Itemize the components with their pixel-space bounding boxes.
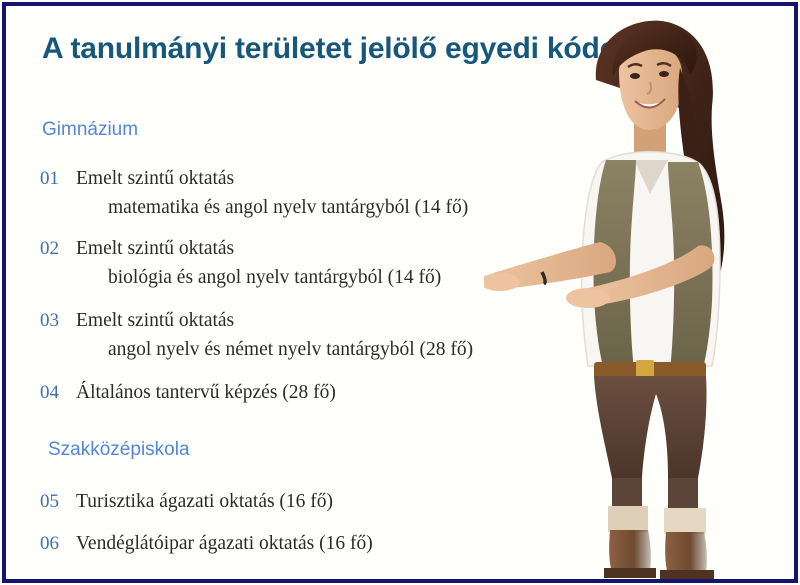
list-item: 04 Általános tantervű képzés (28 fő): [40, 383, 336, 403]
entry-line-2: matematika és angol nyelv tantárgyból (1…: [108, 198, 468, 218]
entry-line-1: Turisztika ágazati oktatás (16 fő): [76, 492, 333, 512]
code-number: 01: [40, 169, 70, 188]
pants: [594, 376, 707, 478]
right-lower-leg: [668, 478, 698, 512]
list-item: 03 Emelt szintű oktatás angol nyelv és n…: [40, 311, 473, 359]
entry-line-2: biológia és angol nyelv tantárgyból (14 …: [108, 268, 441, 288]
entry-line-1: Emelt szintű oktatás: [76, 311, 473, 331]
entry-body: Vendéglátóipar ágazati oktatás (16 fő): [76, 534, 373, 554]
left-boot-cuff: [608, 506, 648, 532]
list-item: 06 Vendéglátóipar ágazati oktatás (16 fő…: [40, 534, 373, 554]
right-boot-cuff: [664, 508, 706, 534]
code-number: 06: [40, 534, 70, 553]
entry-line-1: Emelt szintű oktatás: [76, 169, 468, 189]
entry-body: Emelt szintű oktatás biológia és angol n…: [76, 239, 441, 287]
entry-line-1: Vendéglátóipar ágazati oktatás (16 fő): [76, 534, 373, 554]
entry-body: Emelt szintű oktatás angol nyelv és néme…: [76, 311, 473, 359]
right-boot-sole: [660, 570, 714, 580]
entry-line-2: angol nyelv és német nyelv tantárgyból (…: [108, 340, 473, 360]
left-boot-sole: [604, 568, 656, 578]
list-item: 05 Turisztika ágazati oktatás (16 fő): [40, 492, 333, 512]
presenter-photo: [484, 10, 784, 582]
list-item: 01 Emelt szintű oktatás matematika és an…: [40, 169, 468, 217]
right-boot: [665, 532, 707, 574]
entry-line-1: Emelt szintű oktatás: [76, 239, 441, 259]
code-number: 04: [40, 383, 70, 402]
code-number: 03: [40, 311, 70, 330]
list-item: 02 Emelt szintű oktatás biológia és ango…: [40, 239, 441, 287]
left-eye: [630, 73, 640, 79]
slide-root: A tanulmányi területet jelölő egyedi kód…: [0, 0, 800, 585]
entry-body: Turisztika ágazati oktatás (16 fő): [76, 492, 333, 512]
right-hand: [566, 288, 610, 308]
code-number: 05: [40, 492, 70, 511]
entry-line-1: Általános tantervű képzés (28 fő): [76, 383, 336, 403]
left-boot: [609, 530, 651, 572]
slide-frame: A tanulmányi területet jelölő egyedi kód…: [2, 2, 798, 583]
section-heading-gimnazium: Gimnázium: [42, 119, 138, 141]
code-number: 02: [40, 239, 70, 258]
entry-body: Emelt szintű oktatás matematika és angol…: [76, 169, 468, 217]
right-eye: [659, 71, 669, 77]
entry-body: Általános tantervű képzés (28 fő): [76, 383, 336, 403]
section-heading-szakkozepiskola: Szakközépiskola: [48, 439, 190, 461]
